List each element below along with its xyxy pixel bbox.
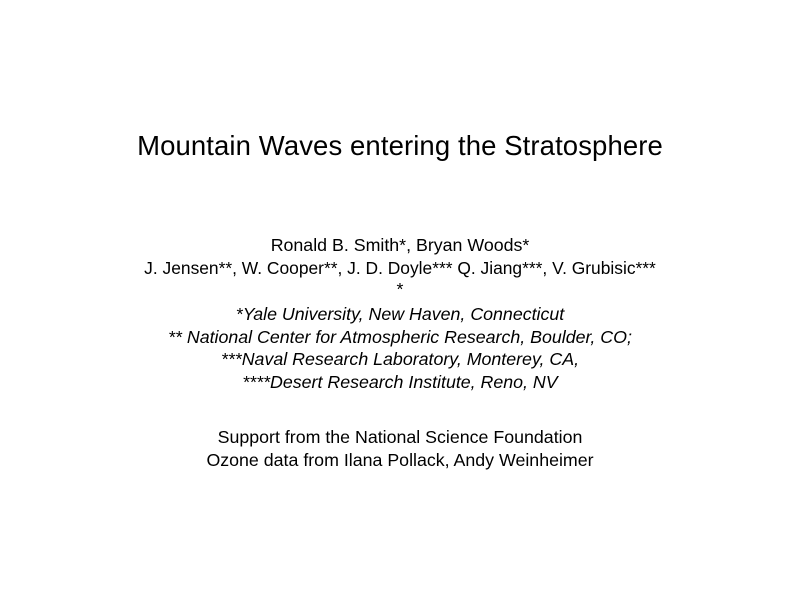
affiliation-line-2: ** National Center for Atmospheric Resea…	[0, 326, 800, 349]
affiliation-line-3: ***Naval Research Laboratory, Monterey, …	[0, 348, 800, 371]
affiliation-block: *Yale University, New Haven, Connecticut…	[0, 303, 800, 393]
author-block: Ronald B. Smith*, Bryan Woods* J. Jensen…	[0, 234, 800, 299]
affiliation-line-1: *Yale University, New Haven, Connecticut	[0, 303, 800, 326]
acknowledgment-block: Support from the National Science Founda…	[0, 426, 800, 471]
acknowledgment-line-data: Ozone data from Ilana Pollack, Andy Wein…	[0, 449, 800, 472]
page-title: Mountain Waves entering the Stratosphere	[0, 128, 800, 164]
author-footnote-marker: *	[0, 279, 800, 299]
author-line-primary: Ronald B. Smith*, Bryan Woods*	[0, 234, 800, 257]
affiliation-line-4: ****Desert Research Institute, Reno, NV	[0, 371, 800, 394]
acknowledgment-line-funding: Support from the National Science Founda…	[0, 426, 800, 449]
author-line-secondary: J. Jensen**, W. Cooper**, J. D. Doyle***…	[0, 257, 800, 280]
title-block: Mountain Waves entering the Stratosphere	[0, 128, 800, 164]
title-slide: Mountain Waves entering the Stratosphere…	[0, 0, 800, 600]
